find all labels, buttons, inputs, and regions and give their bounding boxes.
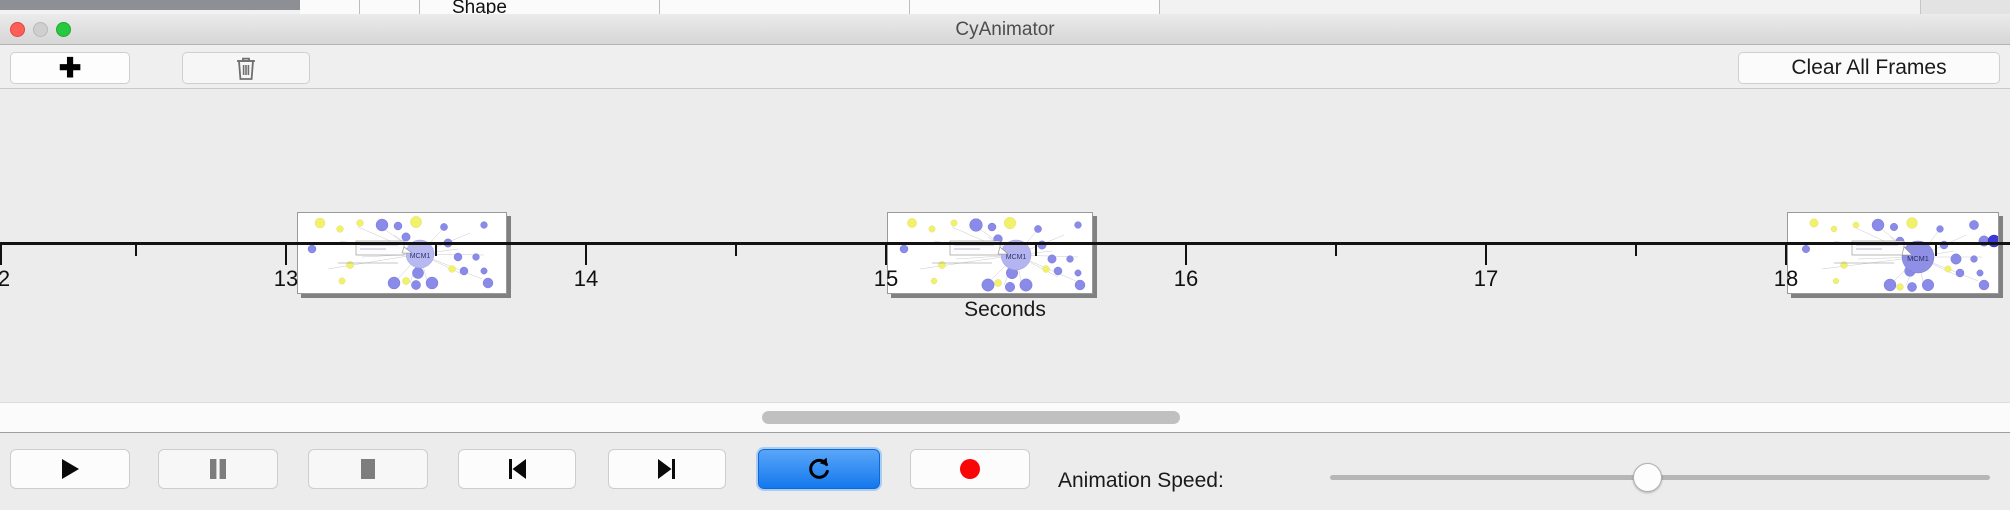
timeline-axis [0,242,2010,245]
axis-tick-label: 13 [274,266,298,292]
background-window-label: Shape [452,0,507,14]
graph-hub-label: MCM1 [1006,254,1027,261]
background-cell [910,0,1160,14]
background-cell [360,0,420,14]
axis-tick-minor [1035,245,1037,256]
delete-frame-button[interactable] [182,52,310,84]
animation-speed-label: Animation Speed: [1058,469,1224,493]
playback-bar: Animation Speed: [0,432,2010,510]
add-frame-button[interactable]: ✚ [10,52,130,84]
background-cell [660,0,910,14]
loop-button[interactable] [758,449,880,489]
background-window-strip: Shape [0,0,2010,14]
axis-tick-major [0,245,2,265]
axis-tick-major [285,245,287,265]
skip-previous-icon [507,457,527,481]
cyanimator-window: Shape CyAnimator ✚ Clear All Frames [0,0,2010,510]
pause-button[interactable] [158,449,278,489]
axis-tick-minor [135,245,137,256]
previous-frame-button[interactable] [458,449,576,489]
toolbar: ✚ Clear All Frames [0,45,2010,89]
next-frame-button[interactable] [608,449,726,489]
axis-tick-major [1485,245,1487,265]
axis-tick-minor [1935,245,1937,256]
background-scrollbar [1920,0,2010,14]
frame-thumbnail[interactable]: MCM1 [1787,212,1999,294]
trash-icon [235,56,257,81]
axis-tick-major [885,245,887,265]
slider-thumb[interactable] [1633,463,1662,492]
network-graph-preview: MCM1 [1788,213,1999,294]
axis-tick-label: 14 [574,266,598,292]
title-bar: CyAnimator [0,14,2010,45]
loop-icon [806,456,832,482]
stop-icon [358,458,378,480]
graph-hub-label: MCM1 [1907,254,1929,263]
axis-tick-label: 2 [0,266,10,292]
background-cell [300,0,360,14]
axis-tick-major [585,245,587,265]
axis-tick-label: 16 [1174,266,1198,292]
scrollbar-thumb[interactable] [762,411,1180,424]
network-graph-preview: MCM1 [888,213,1093,294]
skip-next-icon [657,457,677,481]
axis-tick-minor [1335,245,1337,256]
axis-tick-major [1185,245,1187,265]
axis-tick-label: 18 [1774,266,1798,292]
stop-button[interactable] [308,449,428,489]
axis-tick-minor [435,245,437,256]
graph-hub-label: MCM1 [410,253,431,260]
animation-speed-slider[interactable] [1330,463,1990,479]
timeline-panel[interactable]: MCM1 [0,90,2010,402]
frame-thumbnail[interactable]: MCM1 [297,212,507,294]
pause-icon [208,457,228,481]
axis-title: Seconds [0,298,2010,322]
axis-tick-label: 15 [874,266,898,292]
axis-tick-minor [735,245,737,256]
axis-tick-major [1785,245,1787,265]
frame-thumbnail[interactable]: MCM1 [887,212,1093,294]
timeline-scrollbar[interactable] [0,402,2010,432]
plus-icon: ✚ [59,55,82,82]
network-graph-preview: MCM1 [298,213,507,294]
axis-tick-minor [1635,245,1637,256]
background-titlebar-fragment [0,0,300,10]
play-button[interactable] [10,449,130,489]
window-title: CyAnimator [0,14,2010,45]
axis-tick-label: 17 [1474,266,1498,292]
record-button[interactable] [910,449,1030,489]
play-icon [59,457,81,481]
record-icon [958,457,982,481]
clear-all-frames-button[interactable]: Clear All Frames [1738,52,2000,84]
